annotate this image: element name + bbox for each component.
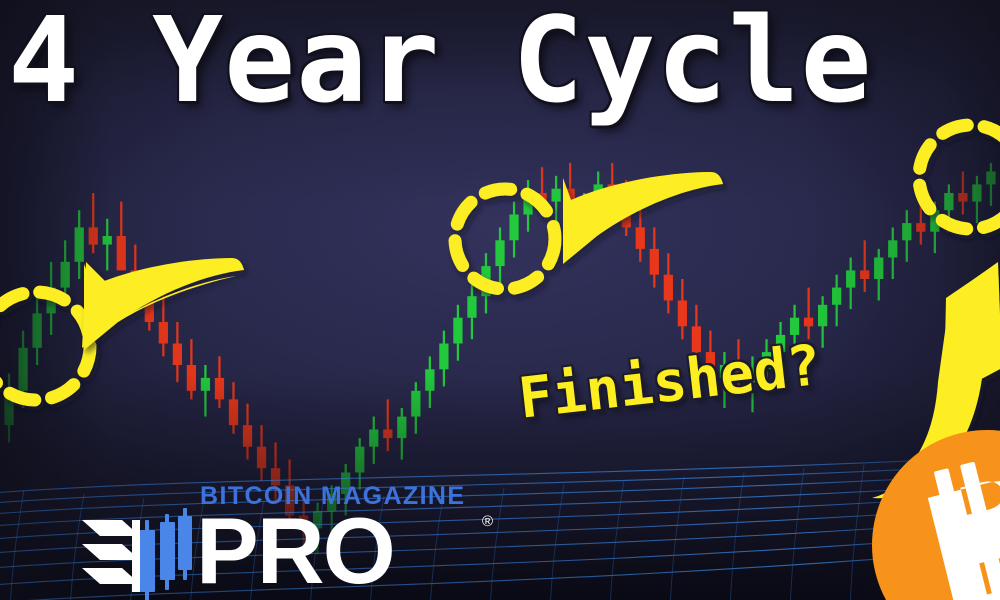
youtube-thumbnail: 4 Year Cycle Finished? bbox=[0, 0, 1000, 600]
brand-pro-row: PRO ® bbox=[196, 505, 496, 597]
bitcoin-magazine-pro-logomark bbox=[78, 496, 196, 600]
page-title: 4 Year Cycle bbox=[8, 0, 1000, 124]
bitcoin-logo-badge bbox=[872, 430, 1000, 600]
brand-logo: BITCOIN MAGAZINE PRO ® bbox=[78, 482, 498, 600]
logomark-blue-candles bbox=[140, 508, 192, 600]
arrow-to-cycle-top-2 bbox=[563, 172, 723, 264]
registered-trademark-icon: ® bbox=[482, 513, 493, 530]
logomark-white-bars bbox=[82, 520, 140, 592]
cycle-top-circle-3 bbox=[919, 125, 1000, 229]
brand-wordmark: BITCOIN MAGAZINE PRO ® bbox=[196, 482, 496, 597]
cycle-top-circle-2 bbox=[455, 189, 555, 289]
brand-pro-text: PRO bbox=[196, 498, 394, 600]
cycle-top-circle-1 bbox=[0, 292, 90, 400]
